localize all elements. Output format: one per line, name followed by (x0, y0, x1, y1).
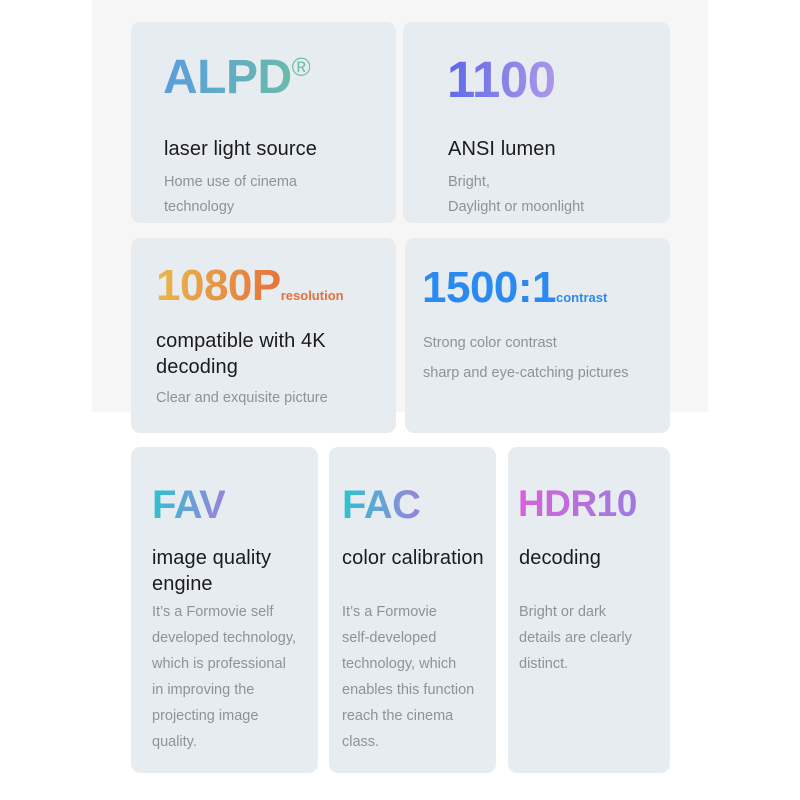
description-line: Bright, (448, 170, 663, 195)
title-ansi-lumen: ANSI lumen (448, 136, 668, 162)
description-line: sharp and eye-catching pictures (423, 358, 668, 388)
description-resolution: Clear and exquisite picture (156, 386, 386, 411)
description-ansi-lumen: Bright, Daylight or moonlight (448, 170, 663, 220)
spec-card-fac: FAC color calibration It’s a Formovie se… (329, 447, 496, 773)
title-alpd: laser light source (164, 136, 394, 162)
headline-ansi-lumen: 1100 (447, 54, 556, 105)
description-line: quality. (152, 729, 304, 755)
spec-feature-grid: ALPD® laser light source Home use of cin… (0, 0, 800, 800)
description-line: Daylight or moonlight (448, 195, 663, 220)
headline-hdr10: HDR10 (518, 485, 637, 522)
spec-card-hdr10: HDR10 decoding Bright or dark details ar… (508, 447, 670, 773)
spec-card-fav: FAV image quality engine It’s a Formovie… (131, 447, 318, 773)
description-fav: It’s a Formovie self developed technolog… (152, 599, 304, 755)
description-line: enables this function (342, 677, 486, 703)
description-line: Clear and exquisite picture (156, 386, 386, 411)
headline-contrast-text: 1500:1 (422, 263, 556, 312)
description-line: technology (164, 195, 379, 220)
headline-fac: FAC (342, 485, 421, 525)
description-fac: It’s a Formovie self-developed technolog… (342, 599, 486, 755)
description-line: details are clearly (519, 625, 664, 651)
description-line: It’s a Formovie (342, 599, 486, 625)
title-fac: color calibration (342, 545, 492, 571)
spec-card-resolution: 1080Presolution compatible with 4K decod… (131, 238, 396, 433)
description-line: Home use of cinema (164, 170, 379, 195)
description-line: self-developed (342, 625, 486, 651)
headline-contrast-suffix: contrast (556, 290, 607, 305)
headline-resolution: 1080Presolution (156, 264, 344, 308)
description-line: reach the cinema (342, 703, 486, 729)
title-resolution: compatible with 4K decoding (156, 328, 381, 380)
headline-alpd-text: ALPD (163, 51, 292, 104)
description-contrast: Strong color contrast sharp and eye-catc… (423, 328, 668, 388)
description-line: Bright or dark (519, 599, 664, 625)
description-alpd: Home use of cinema technology (164, 170, 379, 220)
headline-contrast: 1500:1contrast (422, 266, 607, 310)
description-line: technology, which (342, 651, 486, 677)
registered-trademark-icon: ® (292, 52, 311, 82)
description-line: It’s a Formovie self (152, 599, 304, 625)
headline-resolution-suffix: resolution (281, 288, 344, 303)
description-line: in improving the (152, 677, 304, 703)
description-line: distinct. (519, 651, 664, 677)
description-line: which is professional (152, 651, 304, 677)
headline-resolution-text: 1080P (156, 261, 281, 310)
headline-alpd: ALPD® (163, 54, 310, 102)
spec-card-alpd: ALPD® laser light source Home use of cin… (131, 22, 396, 223)
title-fav: image quality engine (152, 545, 312, 597)
headline-fav: FAV (152, 485, 225, 525)
description-line: class. (342, 729, 486, 755)
description-line: developed technology, (152, 625, 304, 651)
description-line: projecting image (152, 703, 304, 729)
title-hdr10: decoding (519, 545, 669, 571)
description-line: Strong color contrast (423, 328, 668, 358)
description-hdr10: Bright or dark details are clearly disti… (519, 599, 664, 677)
spec-card-contrast: 1500:1contrast Strong color contrast sha… (405, 238, 670, 433)
spec-card-ansi-lumen: 1100 ANSI lumen Bright, Daylight or moon… (403, 22, 670, 223)
